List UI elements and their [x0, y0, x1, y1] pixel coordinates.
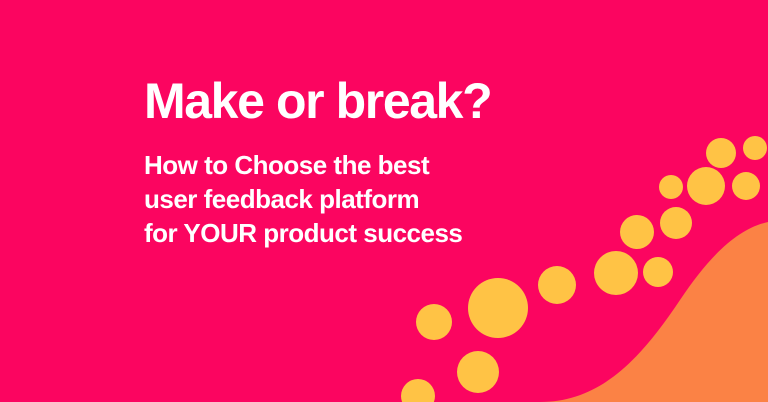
decorative-circle [457, 351, 499, 393]
subtitle-line: user feedback platform [144, 182, 564, 216]
decorative-circle [660, 207, 692, 239]
decorative-circle [594, 251, 638, 295]
decorative-circle [743, 136, 767, 160]
subtitle-line: How to Choose the best [144, 148, 564, 182]
decorative-circle [468, 278, 528, 338]
subtitle-line: for YOUR product success [144, 216, 564, 250]
decorative-circle [659, 175, 683, 199]
decorative-circle [416, 304, 452, 340]
decorative-circle [620, 215, 654, 249]
decorative-circle [401, 379, 435, 402]
orange-blob-shape [540, 222, 768, 402]
page-title: Make or break? [144, 74, 564, 128]
decorative-circle [643, 257, 673, 287]
decorative-circle [732, 172, 760, 200]
decorative-circle [538, 266, 576, 304]
decorative-circle [706, 138, 736, 168]
headline-text-block: Make or break? How to Choose the best us… [144, 74, 564, 250]
promotional-banner: Make or break? How to Choose the best us… [0, 0, 768, 402]
decorative-circle [687, 167, 725, 205]
subtitle: How to Choose the best user feedback pla… [144, 128, 564, 250]
